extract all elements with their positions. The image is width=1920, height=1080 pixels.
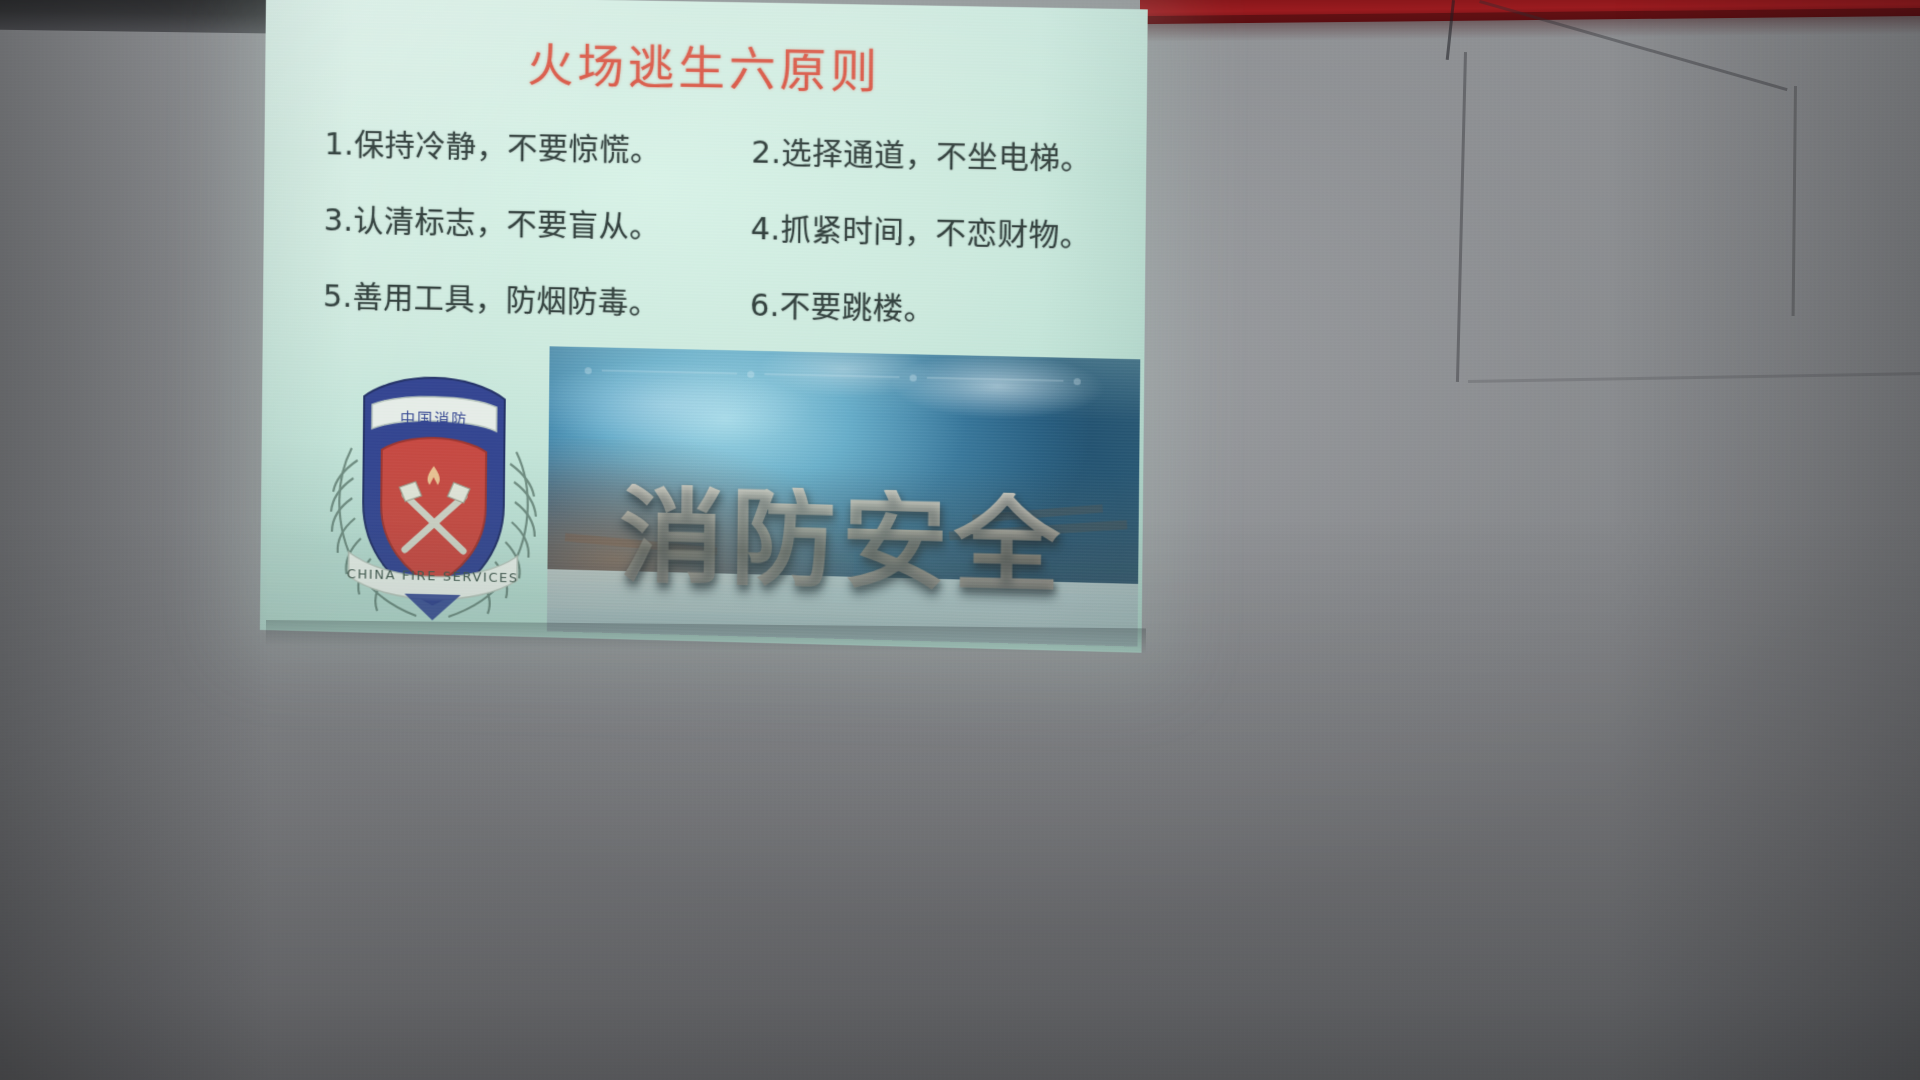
room-photo-scene: 火场逃生六原则 1.保持冷静，不要惊慌。 2.选择通道，不坐电梯。 3.认清标志… (0, 0, 1920, 1080)
wall-vignette (0, 0, 1920, 1080)
